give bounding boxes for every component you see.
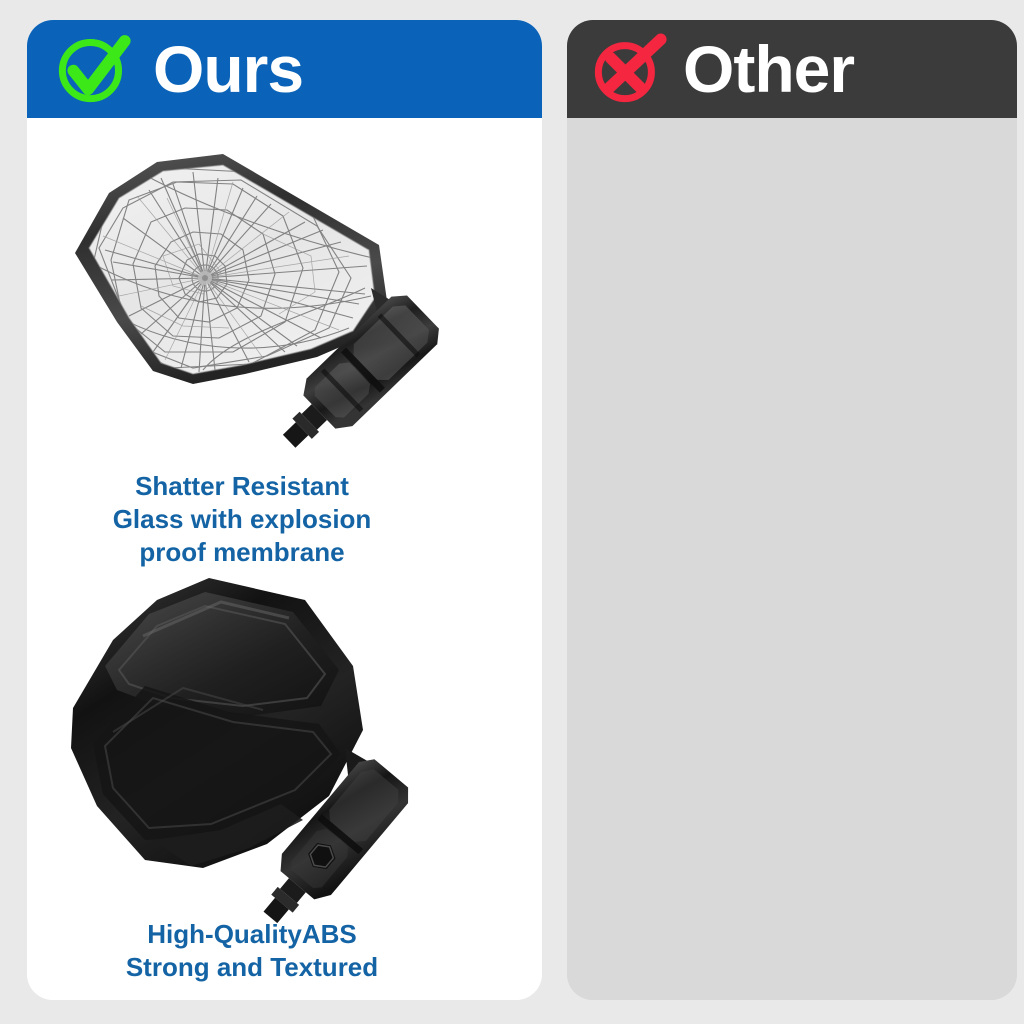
panel-ours-header: Ours xyxy=(27,20,542,118)
comparison-infographic: Ours xyxy=(0,0,1024,1024)
panel-other: Other xyxy=(567,20,1017,1000)
cross-circle-icon xyxy=(589,30,667,108)
panel-other-body xyxy=(567,118,1017,1000)
check-circle-icon xyxy=(53,30,131,108)
caption-high-quality-abs: High-QualityABS Strong and Textured xyxy=(77,918,427,984)
panel-ours: Ours xyxy=(27,20,542,1000)
panel-ours-title: Ours xyxy=(153,36,303,102)
caption-shatter-resistant: Shatter Resistant Glass with explosion p… xyxy=(67,470,417,568)
panel-other-header: Other xyxy=(567,20,1017,118)
panel-other-title: Other xyxy=(683,36,854,102)
